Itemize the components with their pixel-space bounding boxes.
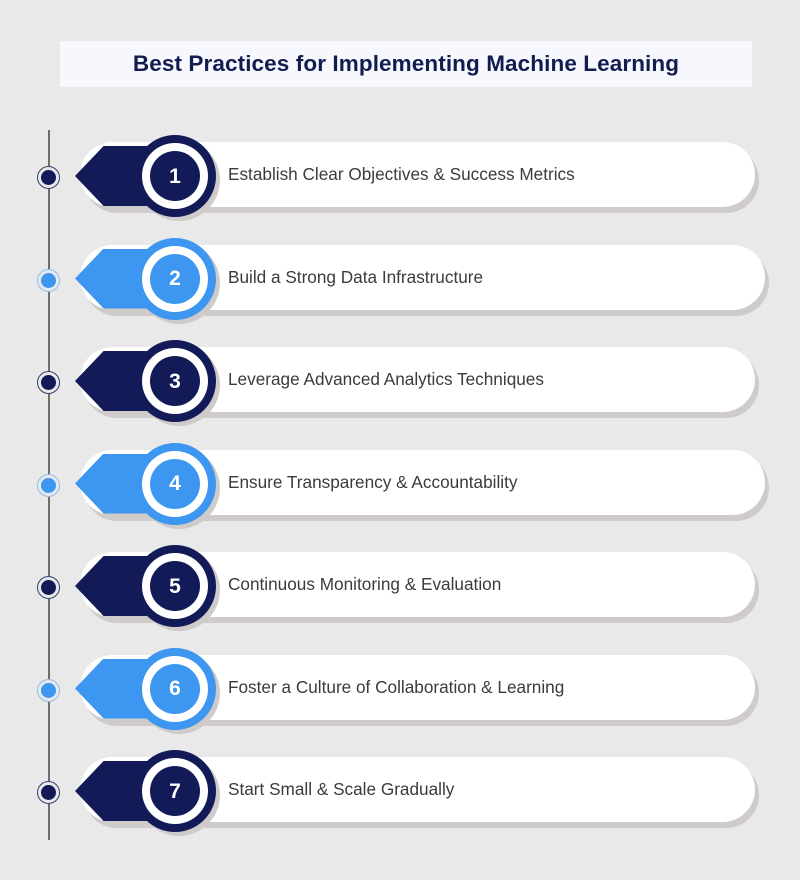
step-number-badge: 4 (150, 459, 200, 509)
timeline-step-2[interactable]: Build a Strong Data Infrastructure2 (0, 230, 800, 332)
step-label: Foster a Culture of Collaboration & Lear… (228, 677, 564, 698)
step-number-badge: 6 (150, 664, 200, 714)
step-number: 3 (169, 371, 181, 392)
timeline-dot-icon (37, 474, 60, 497)
timeline-dot-icon (37, 679, 60, 702)
step-number: 4 (169, 473, 181, 494)
page-title: Best Practices for Implementing Machine … (133, 51, 679, 77)
step-number: 1 (169, 166, 181, 187)
header-banner: Best Practices for Implementing Machine … (60, 41, 752, 87)
timeline-dot-icon (37, 781, 60, 804)
step-number-badge: 3 (150, 356, 200, 406)
step-label: Leverage Advanced Analytics Techniques (228, 369, 544, 390)
step-label: Build a Strong Data Infrastructure (228, 267, 483, 288)
step-number: 6 (169, 678, 181, 699)
timeline-step-7[interactable]: Start Small & Scale Gradually7 (0, 742, 800, 844)
timeline-dot-icon (37, 269, 60, 292)
timeline-step-3[interactable]: Leverage Advanced Analytics Techniques3 (0, 332, 800, 434)
step-label: Ensure Transparency & Accountability (228, 472, 517, 493)
timeline-step-6[interactable]: Foster a Culture of Collaboration & Lear… (0, 640, 800, 742)
timeline-dot-icon (37, 576, 60, 599)
step-number: 2 (169, 268, 181, 289)
step-number-badge: 1 (150, 151, 200, 201)
timeline-step-1[interactable]: Establish Clear Objectives & Success Met… (0, 127, 800, 229)
step-number-badge: 2 (150, 254, 200, 304)
timeline-step-5[interactable]: Continuous Monitoring & Evaluation5 (0, 537, 800, 639)
step-label: Start Small & Scale Gradually (228, 779, 454, 800)
step-number: 7 (169, 781, 181, 802)
timeline-dot-icon (37, 371, 60, 394)
timeline-step-4[interactable]: Ensure Transparency & Accountability4 (0, 435, 800, 537)
step-label: Establish Clear Objectives & Success Met… (228, 164, 575, 185)
step-number: 5 (169, 576, 181, 597)
timeline-dot-icon (37, 166, 60, 189)
step-number-badge: 5 (150, 561, 200, 611)
step-label: Continuous Monitoring & Evaluation (228, 574, 501, 595)
step-number-badge: 7 (150, 766, 200, 816)
